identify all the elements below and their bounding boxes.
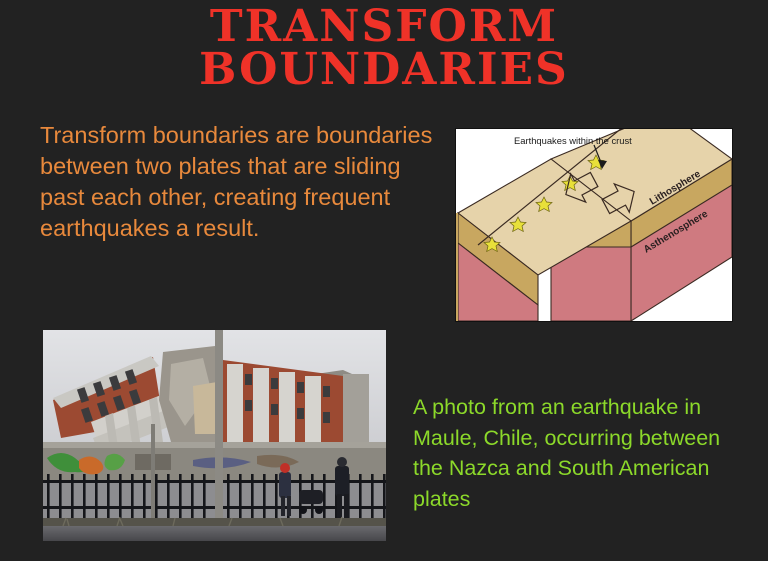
photo-fence-picket [47, 474, 50, 522]
photo-fence-picket [239, 474, 242, 522]
photo-fence-picket [275, 474, 278, 522]
photo-wall-cap [43, 442, 386, 448]
photo-fence-picket [251, 474, 254, 522]
photo-stroller-wheel [315, 506, 323, 514]
photo-window [297, 408, 304, 419]
photo-person-body [279, 472, 291, 498]
photo-fence-picket [155, 474, 158, 522]
photo-fin [253, 368, 269, 442]
diagram-panel: Earthquakes within the crust Lithosphere… [455, 128, 733, 322]
photo-far-building-2 [343, 374, 369, 442]
photo-fence-picket [131, 474, 134, 522]
photo-person-leg [281, 496, 285, 516]
photo-fence-picket [203, 474, 206, 522]
photo-fence-picket [95, 474, 98, 522]
earthquake-photo [43, 330, 386, 541]
left-block-edge [456, 213, 458, 321]
photo-fence-rail-top [43, 480, 386, 483]
page-title: TRANSFORM BOUNDARIES [0, 6, 768, 91]
photo-fence-picket [191, 474, 194, 522]
photo-fence-picket [167, 474, 170, 522]
photo-person-head [337, 457, 347, 467]
photo-window [323, 386, 330, 397]
photo-fence-picket [71, 474, 74, 522]
photo-person-leg [337, 494, 342, 518]
photo-fence-picket [227, 474, 230, 522]
photo-fence-picket [107, 474, 110, 522]
photo-person-right [335, 457, 349, 518]
photo-window [297, 382, 304, 393]
photo-utility-pole-2 [151, 424, 155, 520]
slide-root: TRANSFORM BOUNDARIES Transform boundarie… [0, 0, 768, 561]
photo-fence-picket [119, 474, 122, 522]
photo-fin [305, 376, 321, 442]
photo-person-leg [287, 496, 291, 516]
photo-stroller-wheel [299, 506, 307, 514]
photo-caption: A photo from an earthquake in Maule, Chi… [413, 392, 743, 514]
photo-fence-rail-bottom [43, 506, 386, 509]
photo-fence-picket [179, 474, 182, 522]
photo-fence-picket [383, 474, 386, 522]
photo-fence-picket [83, 474, 86, 522]
photo-road [43, 526, 386, 541]
earthquake-photo-illustration [43, 330, 386, 541]
photo-fence-picket [143, 474, 146, 522]
photo-fence-picket [359, 474, 362, 522]
photo-window [245, 374, 252, 385]
body-paragraph: Transform boundaries are boundaries betw… [40, 120, 440, 244]
photo-person-leg [344, 494, 349, 518]
photo-person-hat [280, 463, 290, 473]
photo-fence-picket [59, 474, 62, 522]
label-earthquakes-within-crust: Earthquakes within the crust [514, 135, 632, 146]
photo-window [245, 400, 252, 411]
photo-window [323, 412, 330, 423]
photo-fence-picket [323, 474, 326, 522]
photo-fin [227, 364, 243, 442]
photo-person-body [335, 466, 349, 496]
photo-fence [43, 474, 386, 522]
photo-fence-picket [371, 474, 374, 522]
photo-window [271, 378, 278, 389]
photo-fin [279, 372, 295, 442]
photo-window [271, 404, 278, 415]
transform-fault-diagram: Earthquakes within the crust Lithosphere… [456, 129, 732, 321]
photo-stroller-body [299, 490, 323, 504]
photo-fence-picket [263, 474, 266, 522]
photo-utility-pole [215, 330, 223, 526]
